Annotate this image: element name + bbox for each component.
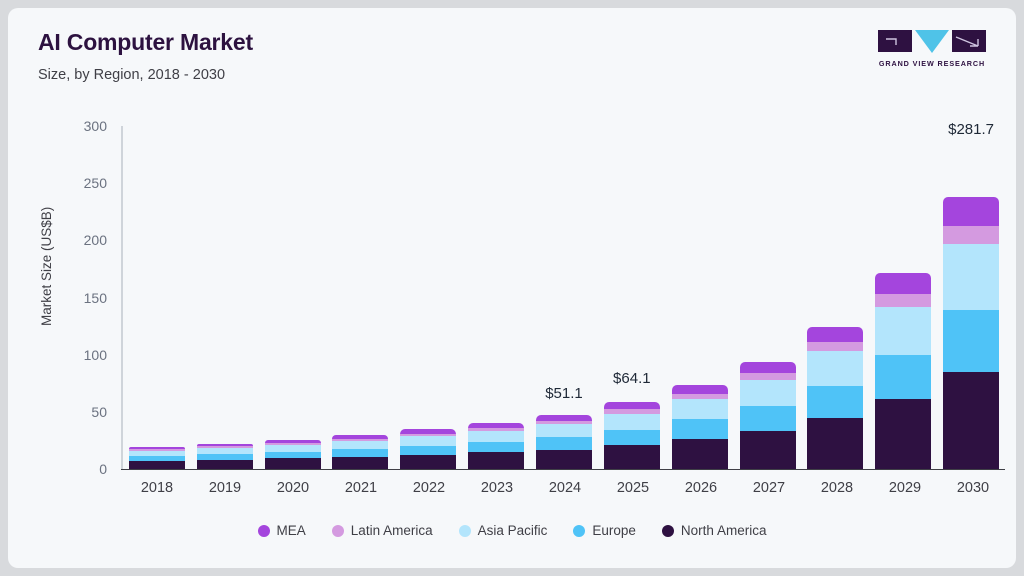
- legend-item-north-america[interactable]: North America: [662, 523, 767, 538]
- y-tick-label: 150: [84, 290, 107, 306]
- bar-segment-europe[interactable]: [400, 446, 456, 455]
- legend-swatch-icon: [573, 525, 585, 537]
- bar-segment-north-america[interactable]: [332, 457, 388, 469]
- bar-segment-asia-pacific[interactable]: [468, 431, 524, 442]
- bar-group[interactable]: [875, 126, 931, 469]
- bar-segment-europe[interactable]: [468, 442, 524, 453]
- x-tick-label: 2030: [945, 480, 1001, 496]
- page-title: AI Computer Market: [38, 30, 986, 55]
- stacked-bar[interactable]: [604, 402, 660, 469]
- bar-segment-asia-pacific[interactable]: [536, 424, 592, 437]
- logo-marks: [878, 30, 986, 54]
- y-tick-label: 250: [84, 175, 107, 191]
- logo-right-box-icon: [952, 30, 986, 52]
- bar-segment-asia-pacific[interactable]: [400, 436, 456, 445]
- bar-segment-mea[interactable]: [943, 197, 999, 226]
- stacked-bar[interactable]: [265, 440, 321, 469]
- legend-label: Latin America: [351, 523, 433, 538]
- bar-series-container: $51.1$64.1$281.7: [123, 126, 1005, 469]
- stacked-bar[interactable]: [536, 415, 592, 469]
- stacked-bar[interactable]: [740, 362, 796, 469]
- bar-group[interactable]: [197, 126, 253, 469]
- bar-segment-asia-pacific[interactable]: [807, 351, 863, 385]
- bar-segment-europe[interactable]: [604, 430, 660, 445]
- x-axis-labels: 2018201920202021202220232024202520262027…: [123, 480, 1007, 496]
- bar-segment-asia-pacific[interactable]: [332, 441, 388, 449]
- y-axis-title: Market Size (US$B): [39, 207, 54, 326]
- bar-segment-latin-america[interactable]: [740, 373, 796, 380]
- stacked-bar[interactable]: [197, 444, 253, 469]
- bar-segment-europe[interactable]: [536, 437, 592, 450]
- legend-swatch-icon: [459, 525, 471, 537]
- x-tick-label: 2018: [129, 480, 185, 496]
- bar-segment-europe[interactable]: [332, 449, 388, 457]
- legend-label: Europe: [592, 523, 636, 538]
- x-tick-label: 2020: [265, 480, 321, 496]
- legend-label: Asia Pacific: [478, 523, 548, 538]
- bar-value-label: $64.1: [613, 370, 651, 387]
- screenshot-root: AI Computer Market Size, by Region, 2018…: [0, 0, 1024, 576]
- x-tick-label: 2019: [197, 480, 253, 496]
- y-tick-label: 0: [99, 461, 107, 477]
- stacked-bar[interactable]: [672, 385, 728, 469]
- x-tick-label: 2027: [741, 480, 797, 496]
- bar-group[interactable]: $64.1: [604, 126, 660, 469]
- bar-segment-latin-america[interactable]: [875, 294, 931, 307]
- stacked-bar[interactable]: [875, 273, 931, 469]
- legend-item-latin-america[interactable]: Latin America: [332, 523, 433, 538]
- bar-segment-north-america[interactable]: [943, 372, 999, 469]
- bar-group[interactable]: $281.7: [943, 126, 999, 469]
- legend-item-asia-pacific[interactable]: Asia Pacific: [459, 523, 548, 538]
- bar-group[interactable]: [129, 126, 185, 469]
- x-tick-label: 2025: [605, 480, 661, 496]
- legend-item-europe[interactable]: Europe: [573, 523, 636, 538]
- bar-segment-north-america[interactable]: [672, 439, 728, 469]
- bar-segment-north-america[interactable]: [400, 455, 456, 469]
- x-tick-label: 2029: [877, 480, 933, 496]
- bar-segment-north-america[interactable]: [468, 452, 524, 469]
- bar-segment-latin-america[interactable]: [943, 226, 999, 245]
- bar-group[interactable]: [807, 126, 863, 469]
- x-tick-label: 2028: [809, 480, 865, 496]
- y-tick-label: 200: [84, 232, 107, 248]
- chart-card: AI Computer Market Size, by Region, 2018…: [8, 8, 1016, 568]
- bar-value-label: $281.7: [948, 121, 994, 138]
- bar-segment-north-america[interactable]: [604, 445, 660, 469]
- bar-segment-north-america[interactable]: [265, 458, 321, 469]
- x-tick-label: 2023: [469, 480, 525, 496]
- bar-segment-north-america[interactable]: [536, 450, 592, 469]
- bar-segment-europe[interactable]: [875, 355, 931, 400]
- x-tick-label: 2022: [401, 480, 457, 496]
- bar-segment-mea[interactable]: [672, 385, 728, 394]
- stacked-bar[interactable]: [332, 435, 388, 469]
- bar-segment-europe[interactable]: [265, 452, 321, 459]
- chart-legend: MEALatin AmericaAsia PacificEuropeNorth …: [8, 523, 1016, 538]
- y-tick-label: 300: [84, 118, 107, 134]
- legend-item-mea[interactable]: MEA: [258, 523, 306, 538]
- chart-subtitle: Size, by Region, 2018 - 2030: [38, 67, 986, 83]
- legend-swatch-icon: [662, 525, 674, 537]
- bar-segment-europe[interactable]: [740, 406, 796, 431]
- bar-segment-north-america[interactable]: [129, 461, 185, 469]
- bar-segment-asia-pacific[interactable]: [740, 380, 796, 406]
- bar-segment-north-america[interactable]: [875, 399, 931, 469]
- y-tick-label: 50: [91, 404, 107, 420]
- bar-group[interactable]: [332, 126, 388, 469]
- chart-header: AI Computer Market Size, by Region, 2018…: [38, 30, 986, 90]
- bar-segment-latin-america[interactable]: [807, 342, 863, 352]
- bar-segment-europe[interactable]: [943, 310, 999, 372]
- bar-value-label: $51.1: [545, 385, 583, 402]
- bar-segment-asia-pacific[interactable]: [943, 244, 999, 310]
- bar-group[interactable]: [468, 126, 524, 469]
- bar-segment-north-america[interactable]: [197, 460, 253, 469]
- bar-group[interactable]: $51.1: [536, 126, 592, 469]
- stacked-bar[interactable]: [807, 327, 863, 469]
- x-tick-label: 2026: [673, 480, 729, 496]
- bar-segment-north-america[interactable]: [740, 431, 796, 469]
- x-tick-label: 2021: [333, 480, 389, 496]
- stacked-bar[interactable]: [468, 423, 524, 469]
- bar-segment-asia-pacific[interactable]: [672, 399, 728, 419]
- bar-group[interactable]: [400, 126, 456, 469]
- y-tick-label: 100: [84, 347, 107, 363]
- bar-segment-mea[interactable]: [875, 273, 931, 294]
- stacked-bar[interactable]: [129, 447, 185, 469]
- stacked-bar[interactable]: [943, 197, 999, 469]
- logo-triangle-icon: [915, 30, 949, 53]
- bar-segment-north-america[interactable]: [807, 418, 863, 469]
- bar-segment-asia-pacific[interactable]: [875, 307, 931, 354]
- legend-swatch-icon: [332, 525, 344, 537]
- legend-label: North America: [681, 523, 767, 538]
- logo-text: GRAND VIEW RESEARCH: [878, 59, 986, 68]
- bar-segment-mea[interactable]: [807, 327, 863, 342]
- legend-label: MEA: [277, 523, 306, 538]
- bar-group[interactable]: [672, 126, 728, 469]
- x-tick-label: 2024: [537, 480, 593, 496]
- stacked-bar[interactable]: [400, 429, 456, 469]
- legend-swatch-icon: [258, 525, 270, 537]
- bar-segment-mea[interactable]: [740, 362, 796, 373]
- plot-area: Market Size (US$B) 050100150200250300 $5…: [121, 126, 1005, 469]
- bar-segment-asia-pacific[interactable]: [265, 445, 321, 452]
- bar-segment-europe[interactable]: [807, 386, 863, 419]
- bar-group[interactable]: [740, 126, 796, 469]
- bar-segment-mea[interactable]: [604, 402, 660, 409]
- bar-group[interactable]: [265, 126, 321, 469]
- logo-left-box-icon: [878, 30, 912, 52]
- bar-segment-asia-pacific[interactable]: [604, 414, 660, 430]
- bar-segment-europe[interactable]: [672, 419, 728, 438]
- grand-view-research-logo: GRAND VIEW RESEARCH: [878, 30, 986, 68]
